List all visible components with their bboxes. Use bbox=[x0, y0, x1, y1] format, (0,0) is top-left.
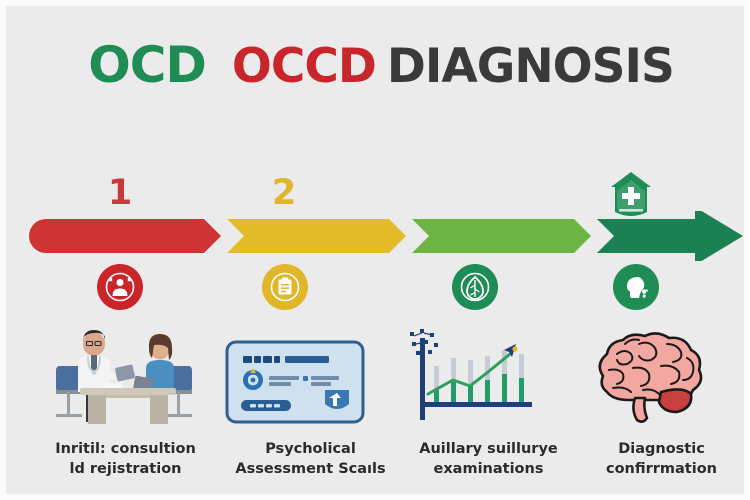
caption-step-3-line-2: examinations bbox=[396, 460, 581, 480]
caption-step-2-line-1: Psycholical bbox=[218, 440, 403, 460]
caption-step-2: Psycholical Assessment Scaıls bbox=[218, 440, 403, 479]
illustration-assessment-card bbox=[221, 328, 369, 438]
caption-step-2-line-2: Assessment Scaıls bbox=[218, 460, 403, 480]
title-word-ocd: OCD bbox=[88, 40, 206, 90]
timeline-segment-1 bbox=[29, 219, 221, 253]
caption-step-4-line-2: confirrmation bbox=[569, 460, 750, 480]
caption-step-1: Inritil: consultion ld rejistration bbox=[33, 440, 218, 479]
caption-step-3: Auillary suillurye examinations bbox=[396, 440, 581, 479]
illustration-growth-chart bbox=[398, 324, 548, 434]
timeline-arrow-band bbox=[6, 211, 750, 261]
caption-step-4-line-1: Diagnostic bbox=[569, 440, 750, 460]
title-word-diagnosis: DIAGNOSIS bbox=[387, 43, 674, 90]
clipboard-assessment-icon bbox=[270, 272, 300, 302]
caption-step-1-line-1: Inritil: consultion bbox=[33, 440, 218, 460]
microscope-lab-icon bbox=[460, 272, 490, 302]
step-number-1: 1 bbox=[90, 176, 150, 211]
caption-step-1-line-2: ld rejistration bbox=[33, 460, 218, 480]
badge-head-profile bbox=[613, 264, 659, 310]
head-profile-icon bbox=[621, 272, 651, 302]
badge-patient-person bbox=[97, 264, 143, 310]
patient-person-icon bbox=[105, 272, 135, 302]
caption-step-3-line-1: Auillary suillurye bbox=[396, 440, 581, 460]
illustration-brain bbox=[573, 324, 723, 434]
illustration-consultation bbox=[42, 322, 208, 432]
step-number-3: 3 bbox=[444, 176, 504, 211]
timeline-segment-3 bbox=[412, 219, 591, 253]
caption-step-4: Diagnostic confirrmation bbox=[569, 440, 750, 479]
timeline-segment-2 bbox=[227, 219, 406, 253]
timeline-segment-4 bbox=[597, 211, 743, 261]
page-title: OCDOCCDDIAGNOSIS bbox=[6, 40, 750, 90]
step-number-2: 2 bbox=[254, 176, 314, 211]
infographic-canvas: OCDOCCDDIAGNOSIS 1 2 3 bbox=[0, 0, 750, 500]
badge-clipboard-assessment bbox=[262, 264, 308, 310]
title-word-occd: OCCD bbox=[232, 43, 376, 90]
badge-microscope-lab bbox=[452, 264, 498, 310]
clinic-home-icon bbox=[607, 171, 655, 217]
